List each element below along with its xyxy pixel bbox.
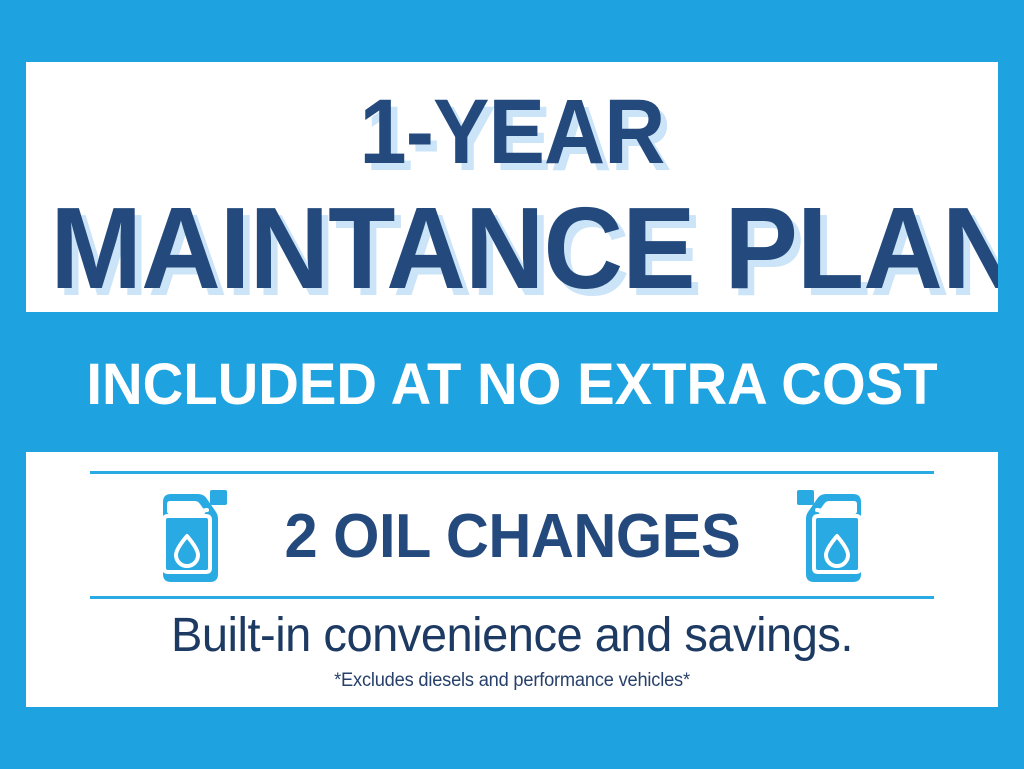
- divider-bottom: [90, 596, 934, 599]
- maintenance-plan-poster: 1-YEAR MAINTANCE PLAN INCLUDED AT NO EXT…: [0, 0, 1024, 769]
- offer-row: 2 OIL CHANGES: [26, 478, 998, 594]
- oil-jug-icon-right: [795, 488, 869, 584]
- headline-panel: 1-YEAR MAINTANCE PLAN: [26, 62, 998, 312]
- offer-panel: 2 OIL CHANGES Built-in convenience and s…: [26, 452, 998, 707]
- divider-top: [90, 471, 934, 474]
- offer-label: 2 OIL CHANGES: [284, 501, 740, 572]
- tagline: Built-in convenience and savings.: [36, 608, 989, 663]
- disclaimer: *Excludes diesels and performance vehicl…: [45, 670, 978, 692]
- headline-line-1: 1-YEAR: [65, 86, 959, 178]
- headline-line-2: MAINTANCE PLAN: [50, 190, 973, 306]
- subheading: INCLUDED AT NO EXTRA COST: [41, 338, 984, 430]
- oil-jug-icon-left: [155, 488, 229, 584]
